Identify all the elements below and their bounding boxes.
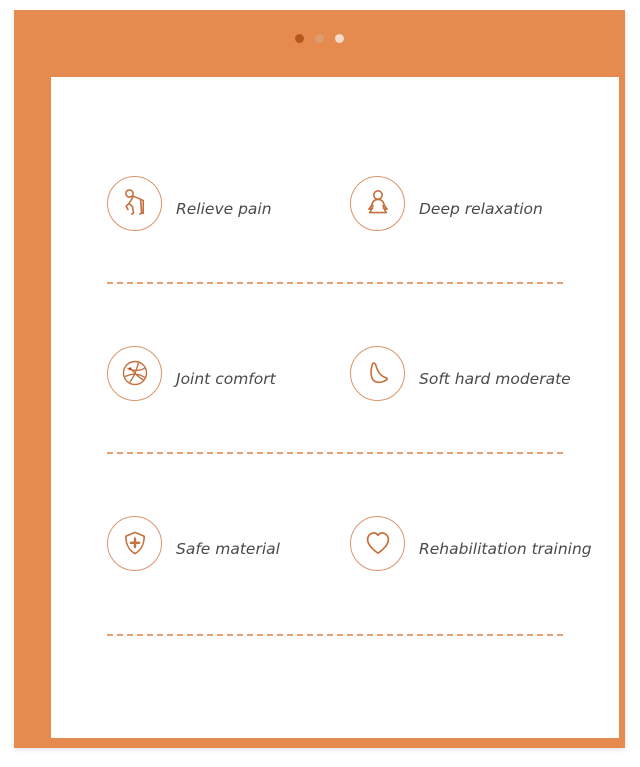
feature-row: Relieve pain [51,155,619,251]
feature-card: Relieve pain [51,77,619,738]
feature-item-joint-comfort[interactable]: Joint comfort [107,325,276,421]
carousel-dot-2[interactable] [315,34,324,43]
orange-frame: Relieve pain [14,10,625,748]
divider [107,282,563,284]
product-feature-slide: Relieve pain [0,0,640,767]
feature-label: Joint comfort [176,358,276,388]
feature-item-rehabilitation-training[interactable]: Rehabilitation training [350,495,592,591]
meditation-pose-icon [350,176,405,231]
feature-label: Rehabilitation training [419,528,592,558]
foot-icon [350,346,405,401]
carousel-dot-indicator [14,30,625,46]
carousel-dot-3[interactable] [335,34,344,43]
feature-label: Soft hard moderate [419,358,571,388]
knee-joint-icon [107,346,162,401]
feature-item-relieve-pain[interactable]: Relieve pain [107,155,272,251]
feature-row: Joint comfort Soft hard moderate [51,325,619,421]
feature-label: Deep relaxation [419,188,543,218]
feature-grid: Relieve pain [51,77,619,738]
feature-label: Safe material [176,528,280,558]
heart-icon [350,516,405,571]
shield-cross-icon [107,516,162,571]
feature-item-deep-relaxation[interactable]: Deep relaxation [350,155,543,251]
feature-label: Relieve pain [176,188,272,218]
carousel-dot-1[interactable] [295,34,304,43]
divider [107,452,563,454]
divider [107,634,563,636]
person-back-pain-icon [107,176,162,231]
feature-row: Safe material Rehabilitation training [51,495,619,591]
feature-item-soft-hard-moderate[interactable]: Soft hard moderate [350,325,571,421]
feature-item-safe-material[interactable]: Safe material [107,495,280,591]
